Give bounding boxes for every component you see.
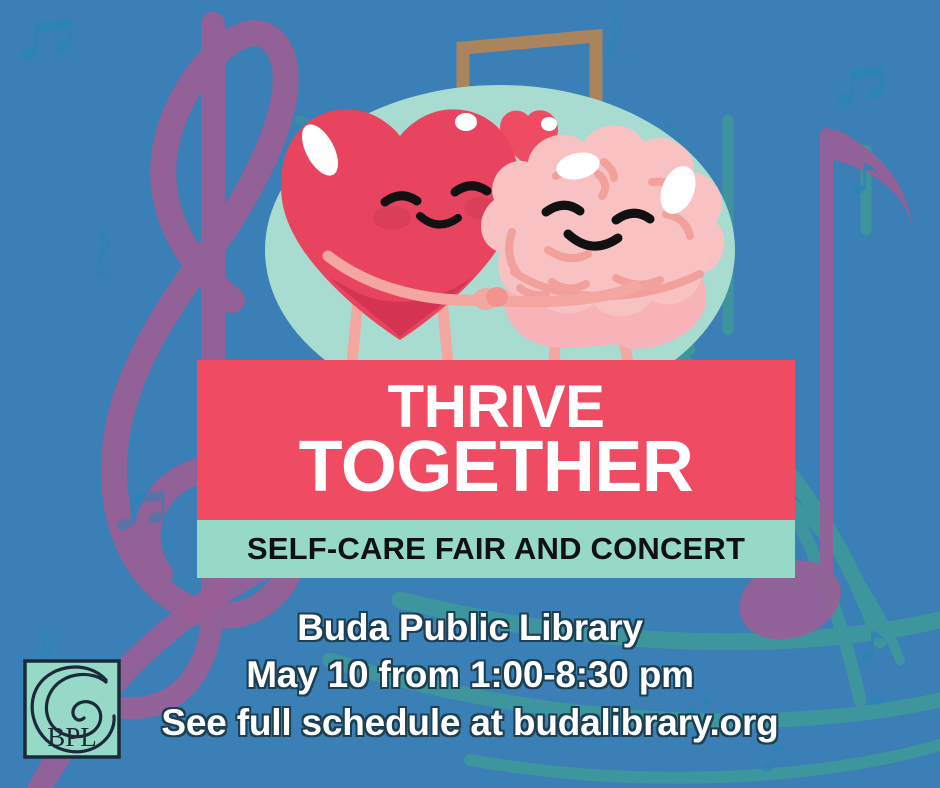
bpl-logo[interactable]: BPL bbox=[22, 658, 122, 760]
detail-venue: Buda Public Library bbox=[0, 604, 940, 651]
event-details: Buda Public Library May 10 from 1:00-8:3… bbox=[0, 604, 940, 746]
logo-text: BPL bbox=[47, 722, 97, 752]
detail-schedule-link[interactable]: See full schedule at budalibrary.org bbox=[0, 699, 940, 746]
title-line-2: TOGETHER bbox=[299, 434, 694, 500]
subtitle-banner: SELF-CARE FAIR AND CONCERT bbox=[197, 520, 795, 578]
detail-datetime: May 10 from 1:00-8:30 pm bbox=[0, 651, 940, 698]
poster-canvas: THRIVE TOGETHER SELF-CARE FAIR AND CONCE… bbox=[0, 0, 940, 788]
poster-title: THRIVE TOGETHER bbox=[299, 379, 694, 500]
poster-subtitle: SELF-CARE FAIR AND CONCERT bbox=[247, 531, 745, 567]
title-banner: THRIVE TOGETHER bbox=[197, 360, 795, 520]
title-line-1: THRIVE bbox=[299, 379, 694, 434]
